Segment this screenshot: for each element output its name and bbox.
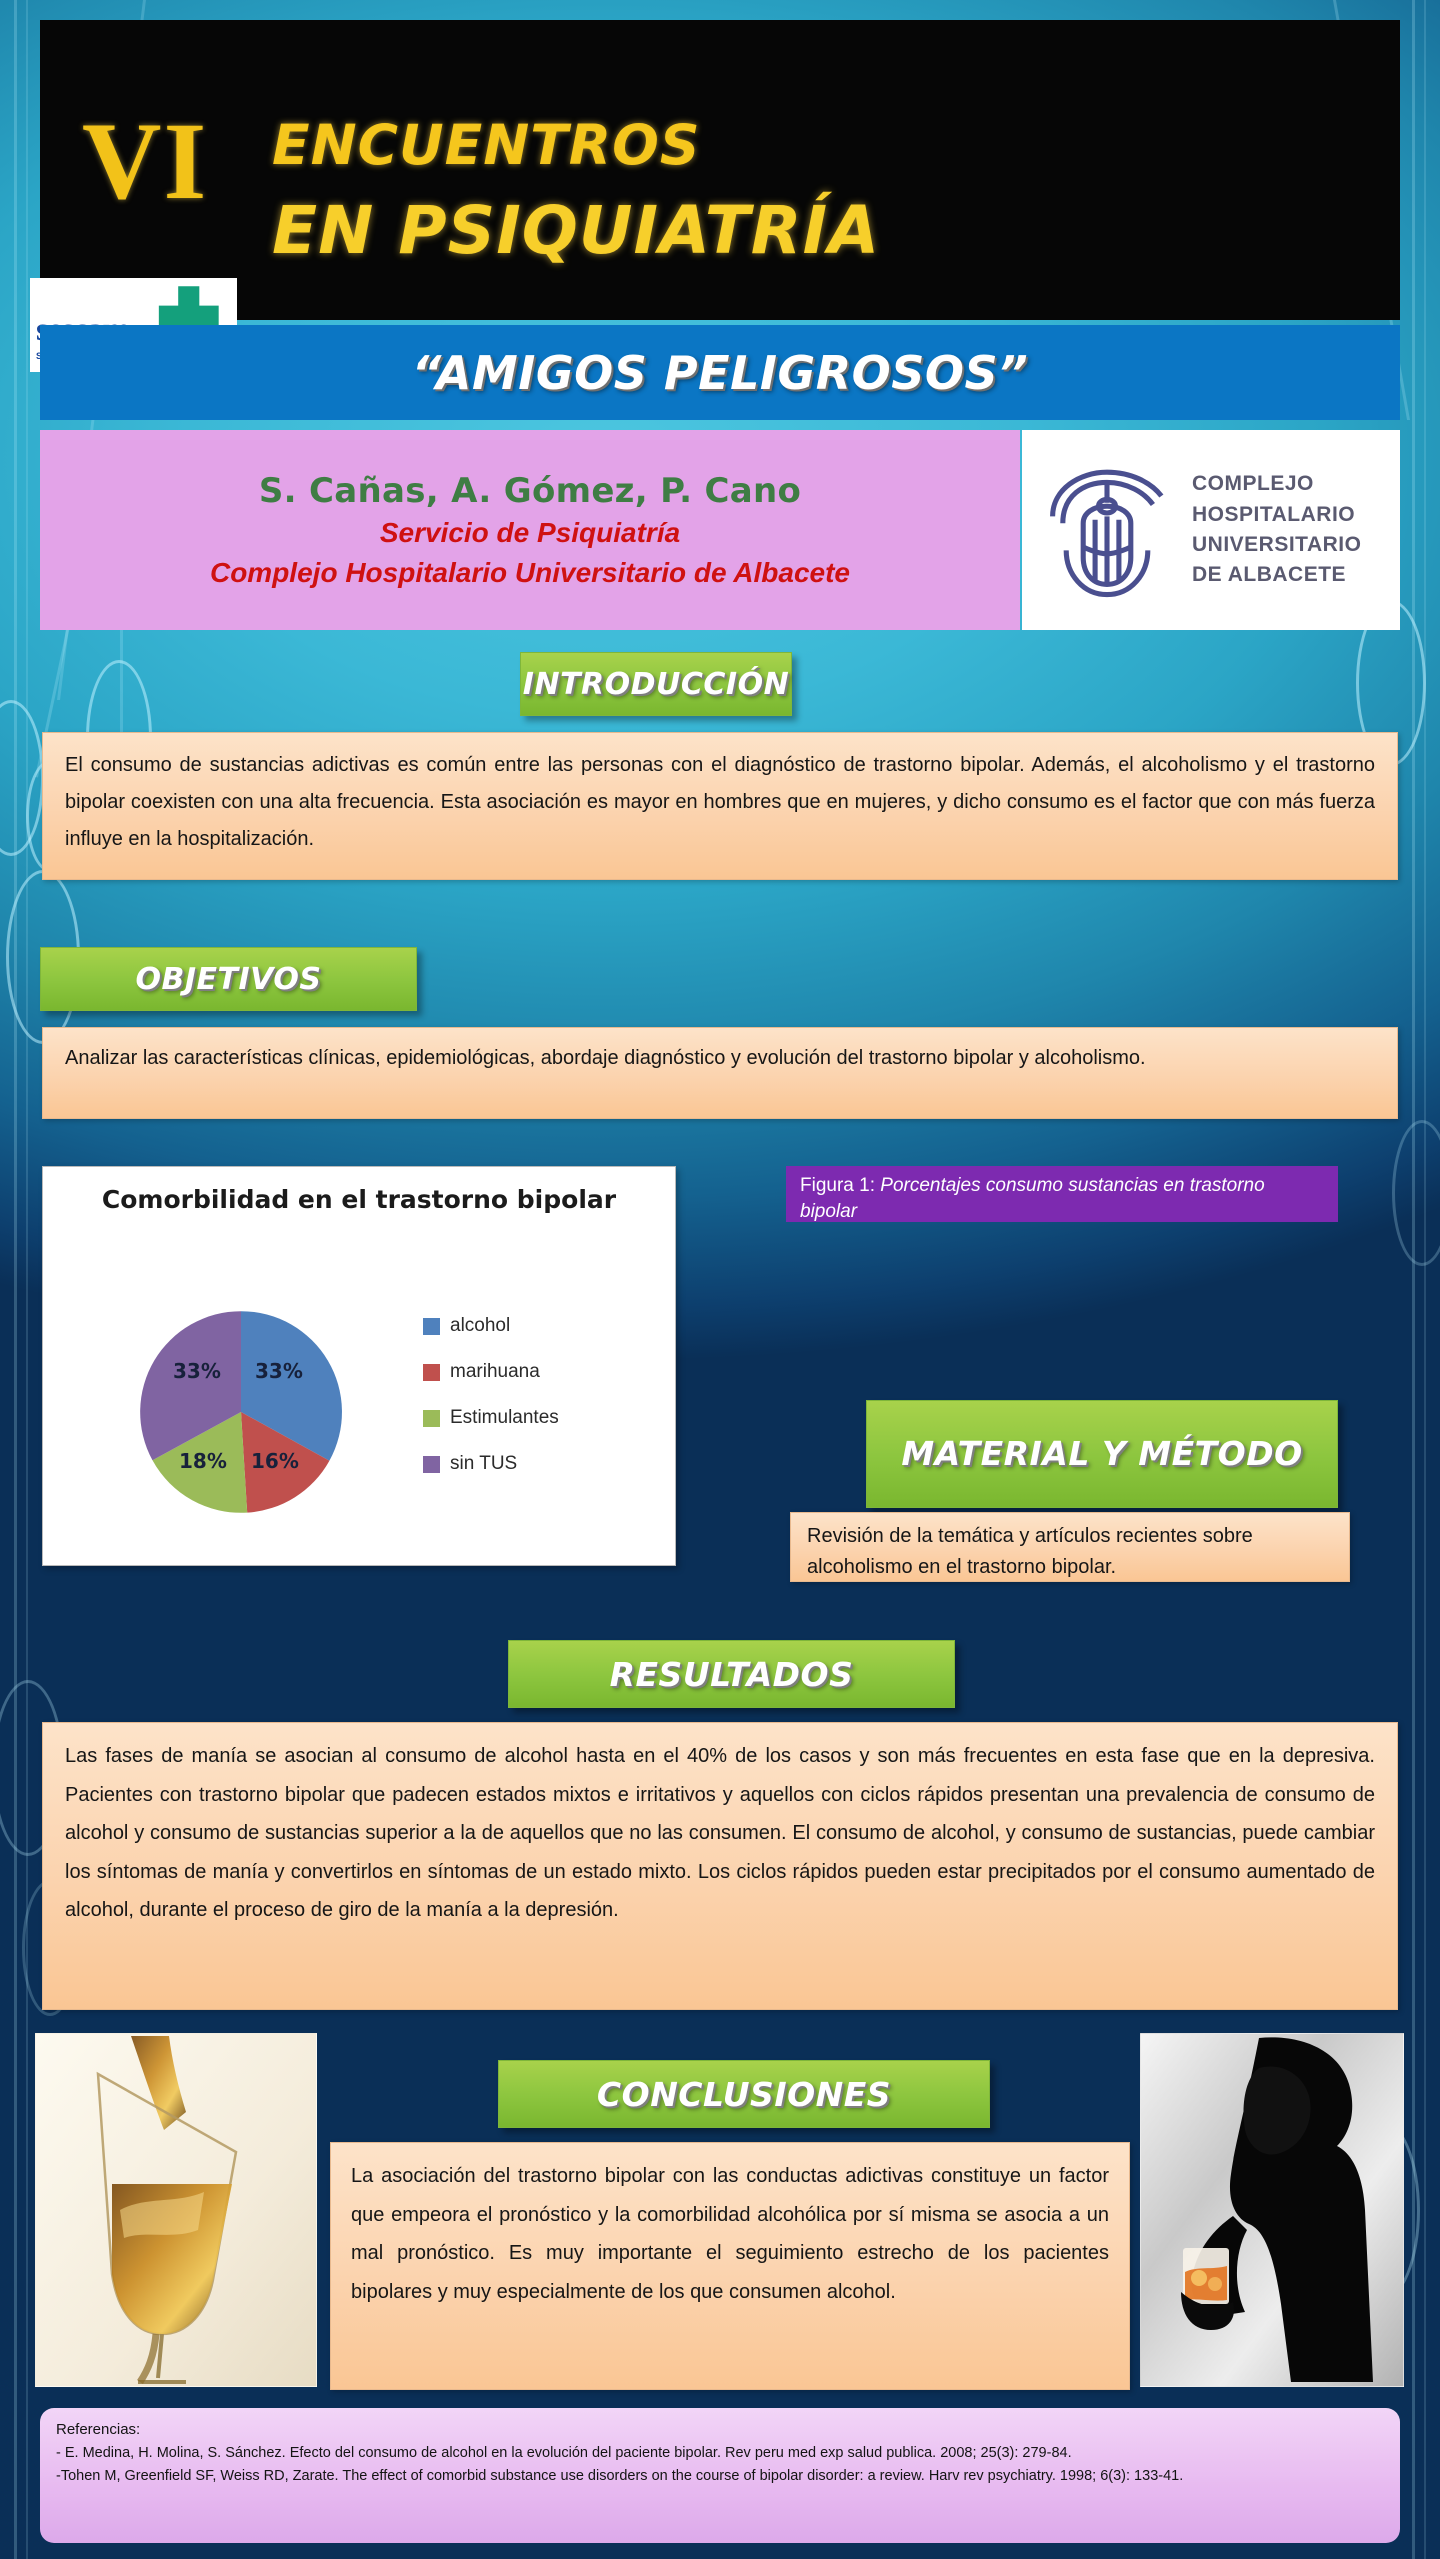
hospital-line-4: DE ALBACETE bbox=[1192, 560, 1361, 590]
conference-banner: VI ENCUENTROS EN PSIQUIATRÍA conducta su… bbox=[40, 20, 1400, 320]
page-title: “AMIGOS PELIGROSOS” bbox=[412, 346, 1029, 400]
chart-title: Comorbilidad en el trastorno bipolar bbox=[43, 1185, 675, 1215]
section-header-resultados-label: RESULTADOS bbox=[610, 1655, 854, 1694]
hospital-logo: COMPLEJO HOSPITALARIO UNIVERSITARIO DE A… bbox=[1022, 430, 1400, 630]
section-header-conclusiones-label: CONCLUSIONES bbox=[597, 2075, 891, 2114]
section-header-material-metodo: MATERIAL Y MÉTODO bbox=[866, 1400, 1338, 1508]
pie-label-alcohol: 33% bbox=[255, 1359, 303, 1383]
decor-ellipse-right-2 bbox=[1392, 1120, 1440, 1266]
man-silhouette-photo bbox=[1140, 2033, 1404, 2387]
hospital-line-1: COMPLEJO bbox=[1192, 469, 1361, 499]
authors-band: S. Cañas, A. Gómez, P. Cano Servicio de … bbox=[40, 430, 1020, 630]
legend-swatch-marihuana bbox=[423, 1364, 440, 1381]
references-title: Referencias: bbox=[56, 2418, 1384, 2442]
reference-item-1: - E. Medina, H. Molina, S. Sánchez. Efec… bbox=[56, 2442, 1384, 2465]
banner-psiquiatria-text: EN PSIQUIATRÍA bbox=[272, 198, 880, 264]
legend-item-alcohol: alcohol bbox=[423, 1315, 559, 1337]
hospital-logo-text: COMPLEJO HOSPITALARIO UNIVERSITARIO DE A… bbox=[1192, 469, 1361, 591]
section-header-objetivos-label: OBJETIVOS bbox=[136, 962, 322, 997]
section-body-introduccion: El consumo de sustancias adictivas es co… bbox=[42, 732, 1398, 880]
decor-line-left-1 bbox=[14, 0, 17, 2559]
legend-label-marihuana: marihuana bbox=[450, 1361, 540, 1383]
man-silhouette-illustration bbox=[1141, 2034, 1403, 2386]
section-header-objetivos: OBJETIVOS bbox=[40, 947, 417, 1011]
section-header-material-metodo-label: MATERIAL Y MÉTODO bbox=[901, 1434, 1302, 1474]
section-body-resultados: Las fases de manía se asocian al consumo… bbox=[42, 1722, 1398, 2010]
figure-caption-prefix: Figura 1: bbox=[800, 1175, 880, 1196]
introduccion-text: El consumo de sustancias adictivas es co… bbox=[65, 747, 1375, 858]
hospital-line-2: HOSPITALARIO bbox=[1192, 500, 1361, 530]
decor-line-right-1 bbox=[1412, 0, 1415, 2559]
legend-swatch-sin-tus bbox=[423, 1456, 440, 1473]
legend-label-alcohol: alcohol bbox=[450, 1315, 510, 1337]
section-body-conclusiones: La asociación del trastorno bipolar con … bbox=[330, 2142, 1130, 2390]
pie-chart: 33% 16% 18% 33% bbox=[131, 1307, 351, 1517]
section-body-material-metodo: Revisión de la temática y artículos reci… bbox=[790, 1512, 1350, 1582]
conclusiones-text: La asociación del trastorno bipolar con … bbox=[351, 2157, 1109, 2311]
material-metodo-text: Revisión de la temática y artículos reci… bbox=[807, 1521, 1333, 1583]
chart-legend: alcohol marihuana Estimulantes sin TUS bbox=[423, 1315, 559, 1499]
legend-swatch-alcohol bbox=[423, 1318, 440, 1335]
figure-caption: Figura 1: Porcentajes consumo sustancias… bbox=[786, 1166, 1338, 1222]
legend-item-estimulantes: Estimulantes bbox=[423, 1407, 559, 1429]
poster-title-bar: “AMIGOS PELIGROSOS” bbox=[40, 325, 1400, 420]
section-header-resultados: RESULTADOS bbox=[508, 1640, 955, 1708]
section-header-introduccion: INTRODUCCIÓN bbox=[520, 652, 792, 716]
legend-label-sin-tus: sin TUS bbox=[450, 1453, 517, 1475]
section-header-conclusiones: CONCLUSIONES bbox=[498, 2060, 990, 2128]
author-institution: Complejo Hospitalario Universitario de A… bbox=[210, 557, 850, 589]
banner-roman-numeral: VI bbox=[82, 106, 208, 216]
pie-label-marihuana: 16% bbox=[251, 1449, 299, 1473]
legend-label-estimulantes: Estimulantes bbox=[450, 1407, 559, 1429]
wine-glass-illustration bbox=[36, 2034, 316, 2386]
legend-swatch-estimulantes bbox=[423, 1410, 440, 1427]
decor-ellipse-left-1 bbox=[0, 700, 44, 856]
section-body-objetivos: Analizar las características clínicas, e… bbox=[42, 1027, 1398, 1119]
objetivos-text: Analizar las características clínicas, e… bbox=[65, 1040, 1375, 1077]
pie-label-sin-tus: 33% bbox=[173, 1359, 221, 1383]
pie-label-estimulantes: 18% bbox=[179, 1449, 227, 1473]
comorbidity-pie-chart-card: Comorbilidad en el trastorno bipolar 33%… bbox=[42, 1166, 676, 1566]
section-header-introduccion-label: INTRODUCCIÓN bbox=[523, 667, 789, 702]
legend-item-marihuana: marihuana bbox=[423, 1361, 559, 1383]
poster-canvas: VI ENCUENTROS EN PSIQUIATRÍA conducta su… bbox=[0, 0, 1440, 2559]
figure-caption-text: Figura 1: Porcentajes consumo sustancias… bbox=[800, 1173, 1326, 1224]
wine-glass-photo bbox=[35, 2033, 317, 2387]
legend-item-sin-tus: sin TUS bbox=[423, 1453, 559, 1475]
decor-line-left-2 bbox=[26, 0, 28, 2559]
decor-line-right-2 bbox=[1424, 0, 1426, 2559]
hospital-line-3: UNIVERSITARIO bbox=[1192, 530, 1361, 560]
pie-chart-svg bbox=[131, 1307, 351, 1517]
resultados-text: Las fases de manía se asocian al consumo… bbox=[65, 1737, 1375, 1930]
author-service: Servicio de Psiquiatría bbox=[380, 517, 680, 549]
banner-encuentros-text: ENCUENTROS bbox=[272, 118, 700, 173]
hospital-emblem-icon bbox=[1022, 445, 1192, 615]
author-names: S. Cañas, A. Gómez, P. Cano bbox=[259, 471, 801, 511]
reference-item-2: -Tohen M, Greenfield SF, Weiss RD, Zarat… bbox=[56, 2465, 1384, 2488]
references-box: Referencias: - E. Medina, H. Molina, S. … bbox=[40, 2408, 1400, 2543]
